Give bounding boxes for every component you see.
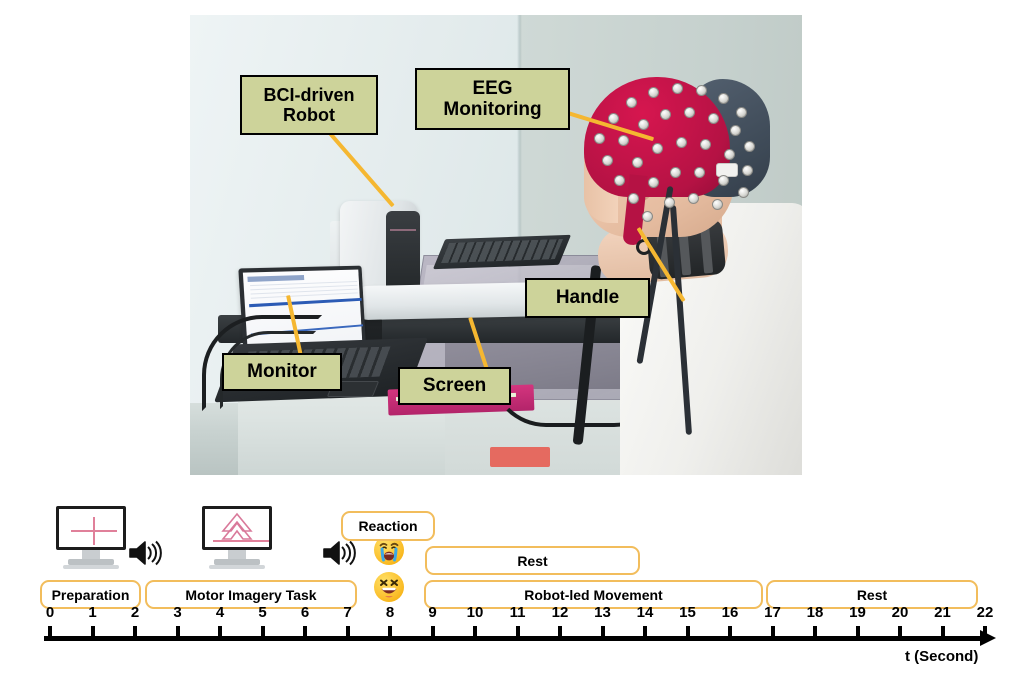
photo-label-eeg-monitoring: EEG Monitoring	[415, 68, 570, 130]
axis-tick-9	[431, 626, 435, 638]
axis-tick-19	[856, 626, 860, 638]
axis-tick-12	[558, 626, 562, 638]
photo-label-monitor: Monitor	[222, 353, 342, 391]
timeline-block-preparation-label: Preparation	[52, 587, 130, 603]
timeline-block-rest-upper-label: Rest	[517, 553, 547, 569]
motor-imagery-baseline	[213, 540, 271, 542]
eeg-electrode	[652, 143, 663, 154]
photo-label-handle-text: Handle	[556, 287, 619, 308]
monitor-stand-foot-2	[209, 565, 265, 569]
monitor-frame-arrow	[202, 506, 272, 550]
axis-tick-8	[388, 626, 392, 638]
axis-tick-label-8: 8	[377, 604, 403, 621]
axis-tick-20	[898, 626, 902, 638]
eeg-electrode	[730, 125, 741, 136]
axis-tick-label-14: 14	[632, 604, 658, 621]
axis-tick-11	[516, 626, 520, 638]
axis-tick-label-3: 3	[165, 604, 191, 621]
eeg-electrode	[738, 187, 749, 198]
timeline-block-robot-led-movement-label: Robot-led Movement	[524, 587, 662, 603]
axis-tick-label-17: 17	[760, 604, 786, 621]
axis-tick-label-11: 11	[505, 604, 531, 621]
photo-label-screen: Screen	[398, 367, 511, 405]
axis-tick-0	[48, 626, 52, 638]
axis-tick-5	[261, 626, 265, 638]
axis-tick-17	[771, 626, 775, 638]
axis-tick-10	[473, 626, 477, 638]
eeg-electrode	[684, 107, 695, 118]
axis-tick-14	[643, 626, 647, 638]
axis-tick-3	[176, 626, 180, 638]
eeg-electrode	[626, 97, 637, 108]
axis-tick-label-2: 2	[122, 604, 148, 621]
eeg-electrode	[676, 137, 687, 148]
eeg-electrode	[670, 167, 681, 178]
eeg-electrode	[648, 87, 659, 98]
eeg-electrode	[664, 197, 675, 208]
eeg-electrode	[742, 165, 753, 176]
axis-tick-21	[941, 626, 945, 638]
axis-tick-7	[346, 626, 350, 638]
axis-tick-label-16: 16	[717, 604, 743, 621]
fixation-cross-vertical	[93, 517, 95, 545]
axis-tick-22	[983, 626, 987, 638]
eeg-electrode	[608, 113, 619, 124]
timeline-block-motor-imagery-label: Motor Imagery Task	[185, 587, 316, 603]
axis-tick-16	[728, 626, 732, 638]
axis-tick-label-13: 13	[590, 604, 616, 621]
figure-root: BCI-driven Robot EEG Monitoring Handle M…	[0, 0, 1028, 693]
photo-label-screen-text: Screen	[423, 375, 486, 396]
eeg-electrode	[744, 141, 755, 152]
axis-tick-label-18: 18	[802, 604, 828, 621]
eeg-electrode	[672, 83, 683, 94]
eeg-electrode	[712, 199, 723, 210]
cue-monitor-motor-imagery	[202, 506, 272, 572]
eeg-electrode	[614, 175, 625, 186]
axis-tick-13	[601, 626, 605, 638]
time-axis-line	[44, 636, 984, 641]
axis-tick-label-4: 4	[207, 604, 233, 621]
photo-label-bci-driven-robot: BCI-driven Robot	[240, 75, 378, 135]
cue-monitor-fixation	[56, 506, 126, 572]
axis-tick-6	[303, 626, 307, 638]
timeline-block-rest-upper[interactable]: Rest	[425, 546, 640, 575]
photo-label-bci-line1: BCI-driven	[263, 85, 354, 105]
timeline-block-reaction[interactable]: Reaction	[341, 511, 435, 541]
photo-label-eeg-line1: EEG	[472, 78, 512, 99]
eeg-electrode	[696, 85, 707, 96]
monitor-stand-foot-1	[63, 565, 119, 569]
monitor-stand-neck-1	[82, 550, 100, 559]
timeline-block-rest-lower-label: Rest	[857, 587, 887, 603]
shelf-keyboard-keys	[441, 239, 563, 263]
eeg-electrode	[618, 135, 629, 146]
experimental-setup-photo: BCI-driven Robot EEG Monitoring Handle M…	[190, 15, 802, 475]
photo-label-monitor-text: Monitor	[247, 361, 317, 382]
eeg-electrode	[718, 93, 729, 104]
axis-tick-label-19: 19	[845, 604, 871, 621]
axis-tick-label-22: 22	[972, 604, 998, 621]
robot-indicator-slit	[390, 229, 416, 231]
eeg-electrode	[736, 107, 747, 118]
axis-tick-1	[91, 626, 95, 638]
eeg-electrode	[648, 177, 659, 188]
axis-tick-label-1: 1	[80, 604, 106, 621]
laptop-screen-text-rows	[250, 281, 358, 300]
eeg-electrode	[602, 155, 613, 166]
workstation-cart-sticker	[490, 447, 550, 467]
axis-tick-label-5: 5	[250, 604, 276, 621]
photo-label-eeg-line2: Monitoring	[443, 99, 541, 120]
eeg-electrode	[724, 149, 735, 160]
laptop-screen-titlebar	[247, 275, 304, 282]
laptop-screen-blue-line-1	[249, 298, 362, 307]
axis-tick-label-20: 20	[887, 604, 913, 621]
time-axis-caption: t (Second)	[905, 648, 978, 665]
photo-label-handle: Handle	[525, 278, 650, 318]
eeg-electrode	[628, 193, 639, 204]
monitor-stand-neck-2	[228, 550, 246, 559]
eeg-electrode	[594, 133, 605, 144]
eeg-electrode	[688, 193, 699, 204]
axis-tick-label-15: 15	[675, 604, 701, 621]
audio-cue-1-speaker-icon	[128, 538, 162, 568]
axis-tick-label-6: 6	[292, 604, 318, 621]
eeg-electrode	[700, 139, 711, 150]
axis-tick-15	[686, 626, 690, 638]
eeg-electrode	[718, 175, 729, 186]
axis-tick-label-0: 0	[37, 604, 63, 621]
audio-cue-2-speaker-icon	[322, 538, 356, 568]
eeg-electrode	[638, 119, 649, 130]
eeg-electrode	[642, 211, 653, 222]
photo-label-bci-line2: Robot	[283, 105, 335, 125]
axis-tick-18	[813, 626, 817, 638]
axis-tick-label-7: 7	[335, 604, 361, 621]
timeline-block-reaction-label: Reaction	[358, 518, 417, 534]
eeg-connector-box	[716, 163, 738, 177]
experiment-timeline: Reaction Rest Preparation Motor Imagery …	[0, 476, 1028, 693]
eeg-electrode	[694, 167, 705, 178]
axis-tick-2	[133, 626, 137, 638]
axis-tick-4	[218, 626, 222, 638]
axis-tick-label-12: 12	[547, 604, 573, 621]
eeg-electrode	[632, 157, 643, 168]
eeg-electrode	[708, 113, 719, 124]
axis-tick-label-21: 21	[930, 604, 956, 621]
monitor-frame-fixation	[56, 506, 126, 550]
laughing-face-emoji	[374, 572, 404, 602]
axis-tick-label-10: 10	[462, 604, 488, 621]
eeg-electrode	[660, 109, 671, 120]
axis-tick-label-9: 9	[420, 604, 446, 621]
